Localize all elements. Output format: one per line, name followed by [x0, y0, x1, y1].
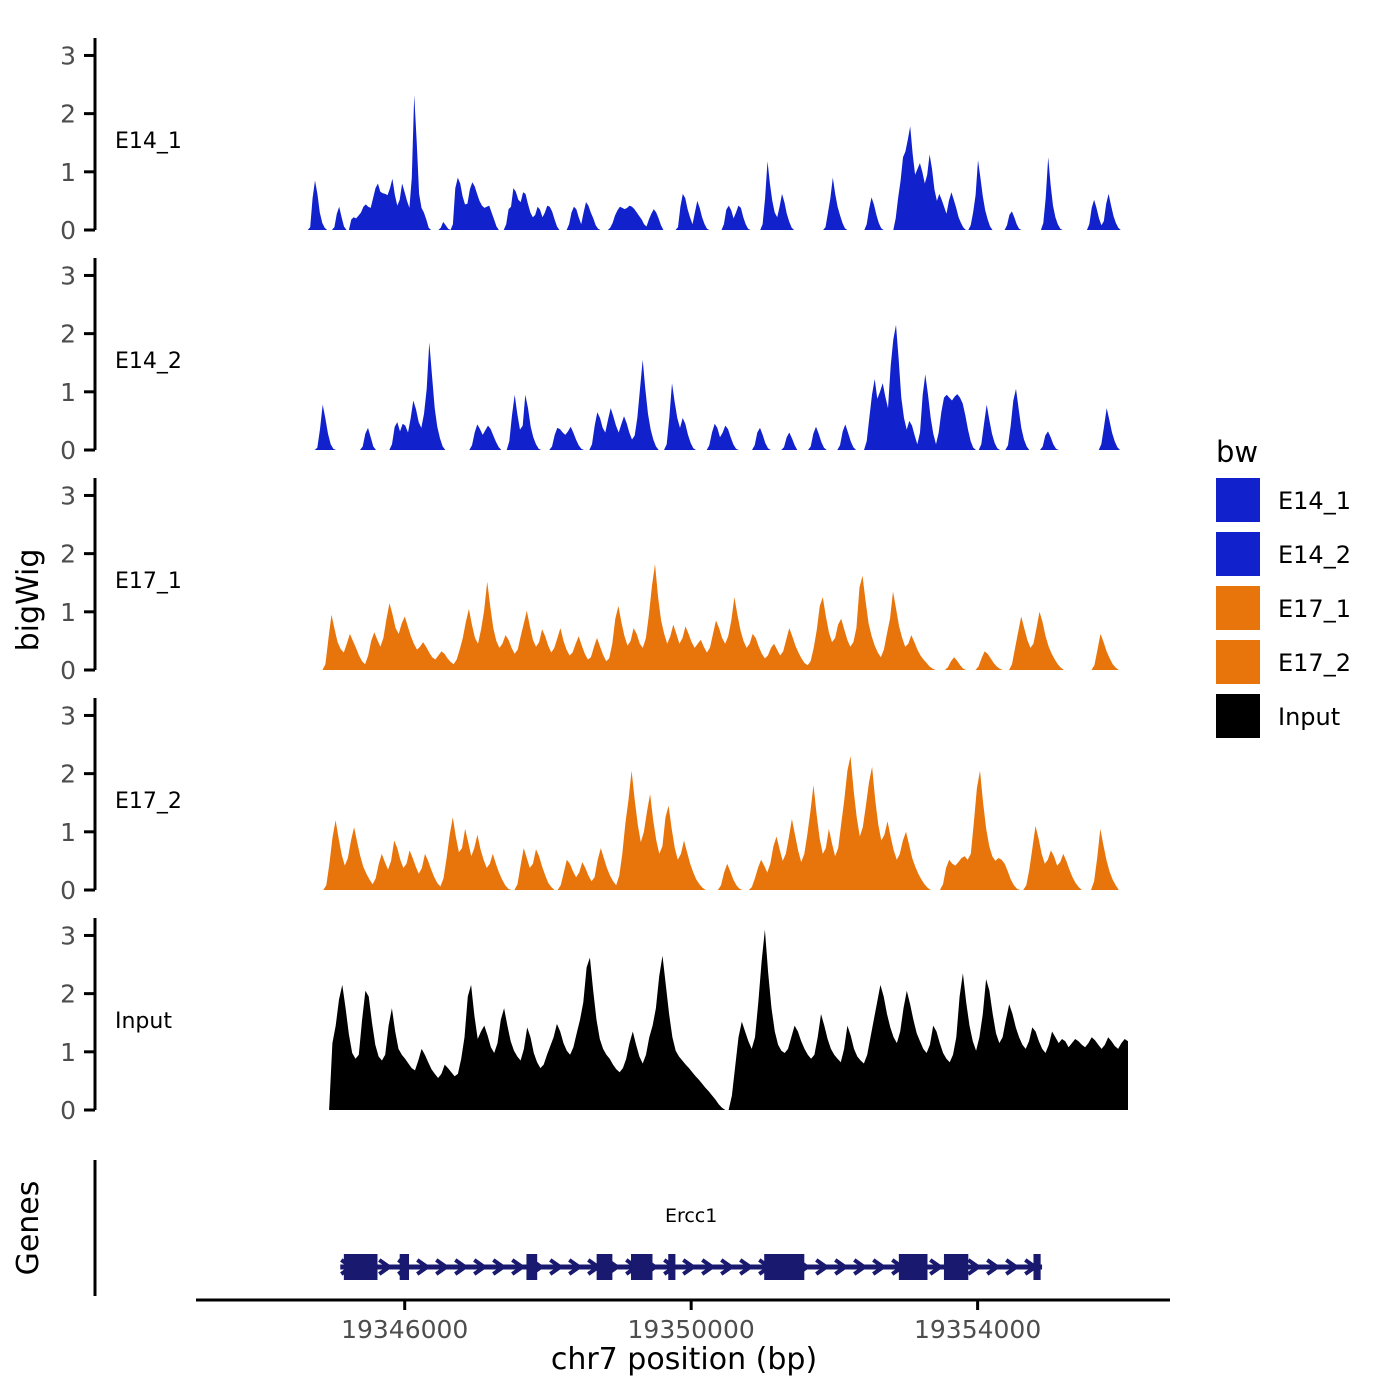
bigwig-genome-browser-figure: bigWig Genes chr7 position (bp) 0123E14_…: [0, 0, 1400, 1400]
genes-axis-title: Genes: [11, 1181, 46, 1276]
x-tick-label: 19350000: [628, 1315, 755, 1344]
y-tick-label: 1: [60, 378, 76, 407]
x-axis-title: chr7 position (bp): [551, 1342, 817, 1377]
y-tick-label: 3: [60, 921, 76, 950]
y-tick-label: 2: [60, 100, 76, 129]
y-tick-label: 3: [60, 261, 76, 290]
legend-label-E14_2: E14_2: [1278, 541, 1351, 569]
legend-label-E17_2: E17_2: [1278, 649, 1351, 677]
gene-exon-box[interactable]: [1033, 1254, 1040, 1280]
gene-exon-box[interactable]: [899, 1254, 928, 1280]
figure-canvas: bigWig Genes chr7 position (bp) 0123E14_…: [0, 0, 1400, 1400]
gene-exon-box[interactable]: [344, 1254, 378, 1280]
legend-swatch-E17_1[interactable]: [1216, 586, 1260, 630]
y-tick-label: 0: [60, 1096, 76, 1125]
y-tick-label: 3: [60, 41, 76, 70]
gene-exon-box[interactable]: [764, 1254, 804, 1280]
y-tick-label: 2: [60, 760, 76, 789]
legend-label-E17_1: E17_1: [1278, 595, 1351, 623]
y-tick-label: 1: [60, 598, 76, 627]
track-label-E17_1: E17_1: [115, 569, 182, 594]
legend-swatch-E14_1[interactable]: [1216, 478, 1260, 522]
gene-exon-box[interactable]: [944, 1254, 968, 1280]
x-tick-label: 19354000: [914, 1315, 1041, 1344]
y-tick-label: 2: [60, 540, 76, 569]
legend-swatch-E14_2[interactable]: [1216, 532, 1260, 576]
legend-title: bw: [1216, 435, 1258, 469]
y-tick-label: 0: [60, 216, 76, 245]
y-tick-label: 1: [60, 1038, 76, 1067]
gene-exon-box[interactable]: [597, 1254, 613, 1280]
gene-exon-box[interactable]: [400, 1254, 409, 1280]
gene-exon-box[interactable]: [526, 1254, 537, 1280]
gene-exon-box[interactable]: [668, 1254, 675, 1280]
x-tick-label: 19346000: [341, 1315, 468, 1344]
legend-swatch-Input[interactable]: [1216, 694, 1260, 738]
y-tick-label: 0: [60, 656, 76, 685]
y-tick-label: 1: [60, 818, 76, 847]
track-label-E14_2: E14_2: [115, 349, 182, 374]
track-label-E14_1: E14_1: [115, 129, 182, 154]
y-tick-label: 2: [60, 320, 76, 349]
track-label-E17_2: E17_2: [115, 789, 182, 814]
y-tick-label: 3: [60, 481, 76, 510]
legend-swatch-E17_2[interactable]: [1216, 640, 1260, 684]
y-tick-label: 1: [60, 158, 76, 187]
y-tick-label: 0: [60, 436, 76, 465]
y-tick-label: 0: [60, 876, 76, 905]
y-tick-label: 3: [60, 701, 76, 730]
legend-label-E14_1: E14_1: [1278, 487, 1351, 515]
gene-exon-box[interactable]: [631, 1254, 652, 1280]
track-label-Input: Input: [115, 1009, 172, 1034]
y-axis-title: bigWig: [11, 549, 46, 652]
gene-label-Ercc1: Ercc1: [665, 1205, 717, 1227]
y-tick-label: 2: [60, 980, 76, 1009]
legend-label-Input: Input: [1278, 703, 1340, 731]
